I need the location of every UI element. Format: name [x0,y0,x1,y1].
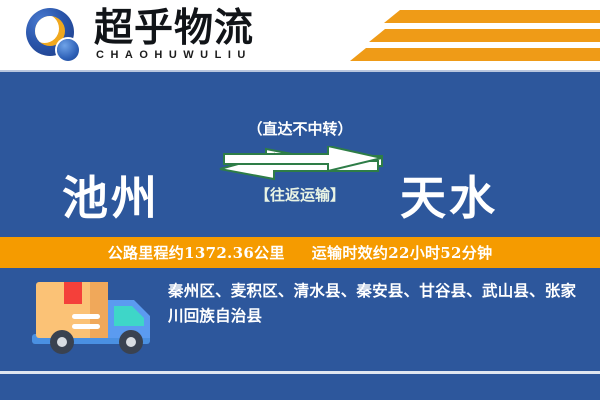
round-trip-note: 【往返运输】 [0,184,600,205]
brand-name-en: CHAOHUWULIU [96,49,252,61]
header-stripe-2 [369,29,600,42]
logistics-route-poster: 超乎物流 CHAOHUWULIU 池州 天水 （直达不中转） 【往返运输】 公路… [0,0,600,400]
poster-header: 超乎物流 CHAOHUWULIU [0,0,600,70]
banner-text-group: 公路里程约1372.36公里 运输时效约22小时52分钟 [108,242,493,263]
route-section: 池州 天水 （直达不中转） 【往返运输】 [0,72,600,237]
footer-band [0,374,600,400]
delivery-truck-icon [28,276,160,362]
duration-text: 运输时效约22小时52分钟 [312,244,493,262]
header-stripe-3 [350,48,600,61]
header-stripe-1 [384,10,600,23]
distance-text: 公路里程约1372.36公里 [108,244,285,262]
direct-service-note: （直达不中转） [0,118,600,139]
coverage-section: 秦州区、麦积区、清水县、秦安县、甘谷县、武山县、张家川回族自治县 [0,268,600,373]
covered-districts-text: 秦州区、麦积区、清水县、秦安县、甘谷县、武山县、张家川回族自治县 [168,278,586,328]
brand-name-cn: 超乎物流 [94,6,254,50]
bidirectional-arrow-icon [218,146,384,184]
route-info-banner: 公路里程约1372.36公里 运输时效约22小时52分钟 [0,237,600,268]
logo-small-circle [57,39,79,61]
company-logo-icon [26,8,82,64]
